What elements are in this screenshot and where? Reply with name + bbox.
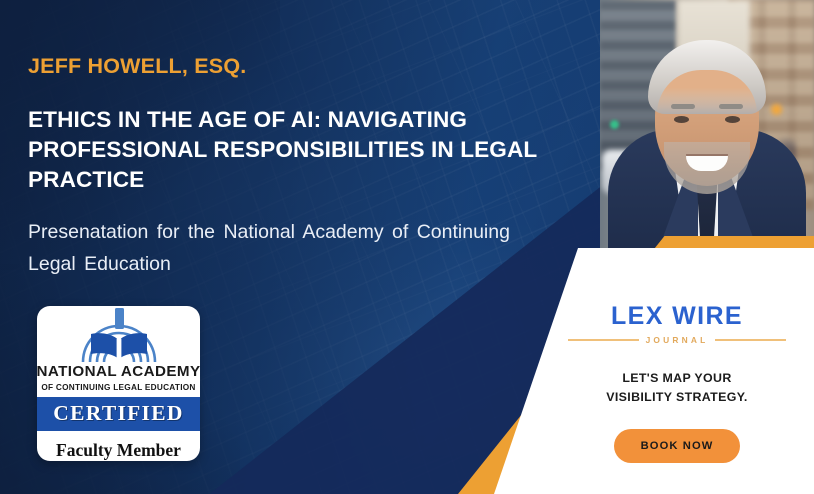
logo-rule-left xyxy=(568,339,639,340)
headshot-traffic-light-icon xyxy=(610,120,619,129)
logo-rule-right xyxy=(715,339,786,340)
promo-tagline-line-1: LET'S MAP YOUR xyxy=(540,369,814,388)
headshot-street-lamp-icon xyxy=(771,104,782,115)
speaker-name: JEFF HOWELL, ESQ. xyxy=(28,54,550,79)
lex-wire-journal-row: JOURNAL xyxy=(540,335,814,345)
headshot-eye-right xyxy=(725,116,740,123)
promo-banner: JEFF HOWELL, ESQ. ETHICS IN THE AGE OF A… xyxy=(0,0,814,494)
badge-organization-name: NATIONAL ACADEMY xyxy=(37,365,200,380)
event-subtitle: Presenatation for the National Academy o… xyxy=(28,217,538,280)
lex-wire-logo: LEX WIRE xyxy=(540,304,814,329)
page-title: ETHICS IN THE AGE OF AI: NAVIGATING PROF… xyxy=(28,105,550,195)
badge-organization-subtitle: OF CONTINUING LEGAL EDUCATION xyxy=(37,383,200,392)
headshot-eye-left xyxy=(674,116,689,123)
open-book-emblem-icon xyxy=(37,306,200,364)
book-now-button[interactable]: BOOK NOW xyxy=(614,429,741,463)
headshot-eyebrow-left xyxy=(671,104,695,109)
promo-card-content: LEX WIRE JOURNAL LET'S MAP YOUR VISIBILI… xyxy=(540,304,814,463)
speaker-headshot xyxy=(600,0,814,251)
lex-wire-journal-label: JOURNAL xyxy=(646,335,709,345)
badge-role-label: Faculty Member xyxy=(37,431,200,461)
certification-badge: NATIONAL ACADEMY OF CONTINUING LEGAL EDU… xyxy=(37,306,200,461)
badge-certified-label: CERTIFIED xyxy=(37,397,200,431)
promo-tagline-line-2: VISIBILITY STRATEGY. xyxy=(540,388,814,407)
headshot-eyebrow-right xyxy=(719,104,743,109)
promo-tagline: LET'S MAP YOUR VISIBILITY STRATEGY. xyxy=(540,369,814,407)
